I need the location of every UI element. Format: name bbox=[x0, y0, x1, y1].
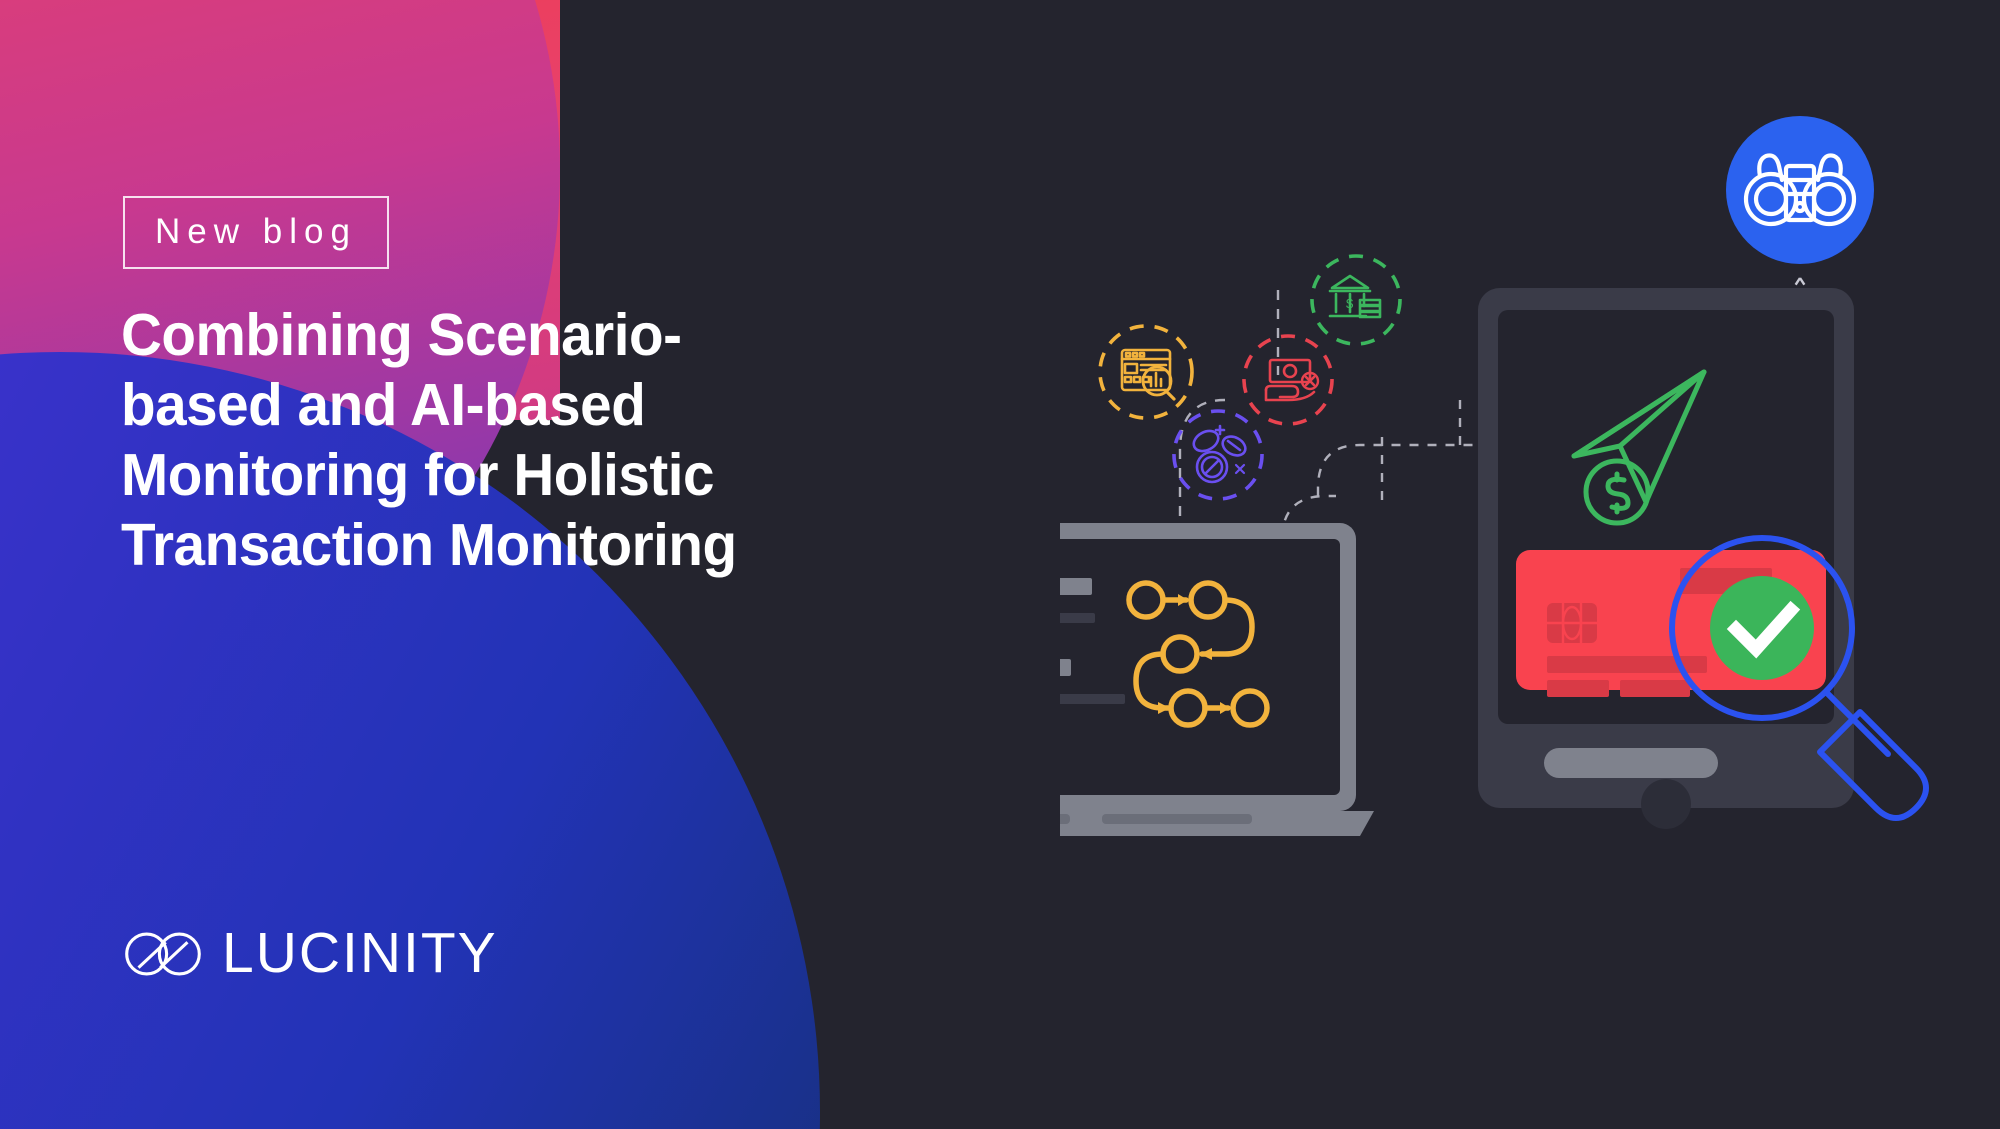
new-blog-badge: New blog bbox=[123, 196, 389, 269]
node-ring-green bbox=[1312, 256, 1400, 344]
coins-icon bbox=[1190, 426, 1248, 482]
infinity-loop-icon bbox=[124, 931, 202, 977]
node-blocked-payment bbox=[1244, 336, 1332, 424]
brand-logo: LUCINITY bbox=[124, 925, 498, 982]
card-chip bbox=[1547, 603, 1597, 643]
node-bank-funds: $ bbox=[1312, 256, 1400, 344]
row-title-1 bbox=[1060, 578, 1092, 595]
dashboard-search-icon bbox=[1122, 350, 1174, 399]
laptop-trackpad-left bbox=[1060, 814, 1070, 824]
laptop-screen bbox=[1060, 539, 1340, 795]
illustration: $ bbox=[1060, 100, 2000, 1000]
node-coins-transaction bbox=[1174, 411, 1262, 499]
brand-name: LUCINITY bbox=[222, 925, 498, 982]
row-title-2 bbox=[1060, 659, 1071, 676]
page-title: Combining Scenario- based and AI-based M… bbox=[121, 300, 908, 580]
cash-hand-blocked-icon bbox=[1266, 360, 1318, 400]
row-text-1 bbox=[1060, 613, 1095, 623]
promo-banner: New blog Combining Scenario- based and A… bbox=[0, 0, 2000, 1129]
card-detail-bar-1 bbox=[1547, 680, 1609, 697]
binoculars-badge bbox=[1726, 116, 1874, 315]
node-ring-purple bbox=[1174, 411, 1262, 499]
row-text-2 bbox=[1060, 694, 1125, 704]
laptop-trackpad-right bbox=[1102, 814, 1252, 824]
home-button bbox=[1641, 779, 1691, 829]
svg-text:$: $ bbox=[1346, 296, 1354, 311]
tablet-device bbox=[1478, 288, 1854, 829]
new-blog-badge-label: New blog bbox=[155, 212, 357, 251]
headline-line-4: Transaction Monitoring bbox=[121, 510, 908, 580]
tablet-label-bar bbox=[1544, 748, 1718, 778]
bank-money-icon: $ bbox=[1330, 276, 1380, 317]
card-detail-bar-2 bbox=[1620, 680, 1690, 697]
laptop-device bbox=[1060, 523, 1374, 836]
check-circle-icon bbox=[1710, 576, 1814, 680]
headline-line-1: Combining Scenario- bbox=[121, 300, 908, 370]
headline-line-3: Monitoring for Holistic bbox=[121, 440, 908, 510]
node-scenario-analytics bbox=[1100, 326, 1192, 418]
headline-line-2: based and AI-based bbox=[121, 370, 908, 440]
